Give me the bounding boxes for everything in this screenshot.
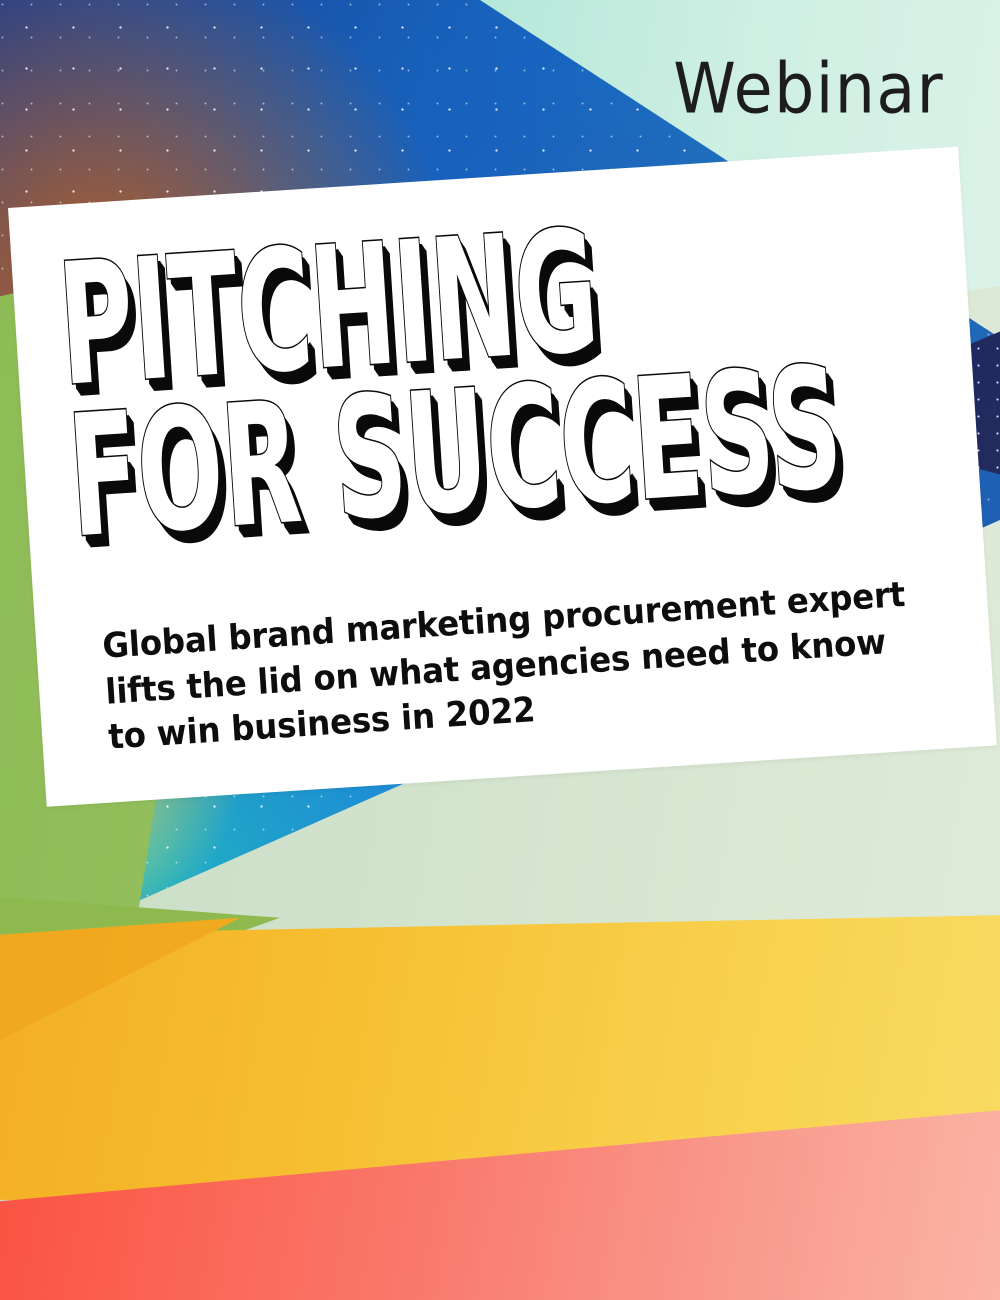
webinar-poster: Webinar PITCHING FOR SUCCESS Global bran… bbox=[0, 0, 1000, 1300]
headline-block: PITCHING FOR SUCCESS bbox=[55, 196, 962, 552]
title-card: PITCHING FOR SUCCESS Global brand market… bbox=[8, 147, 997, 807]
subtitle-block: Global brand marketing procurement exper… bbox=[101, 571, 935, 761]
title-card-content: PITCHING FOR SUCCESS Global brand market… bbox=[8, 147, 997, 807]
webinar-kicker-label: Webinar bbox=[673, 48, 944, 130]
headline-line-2: FOR SUCCESS bbox=[65, 370, 607, 552]
